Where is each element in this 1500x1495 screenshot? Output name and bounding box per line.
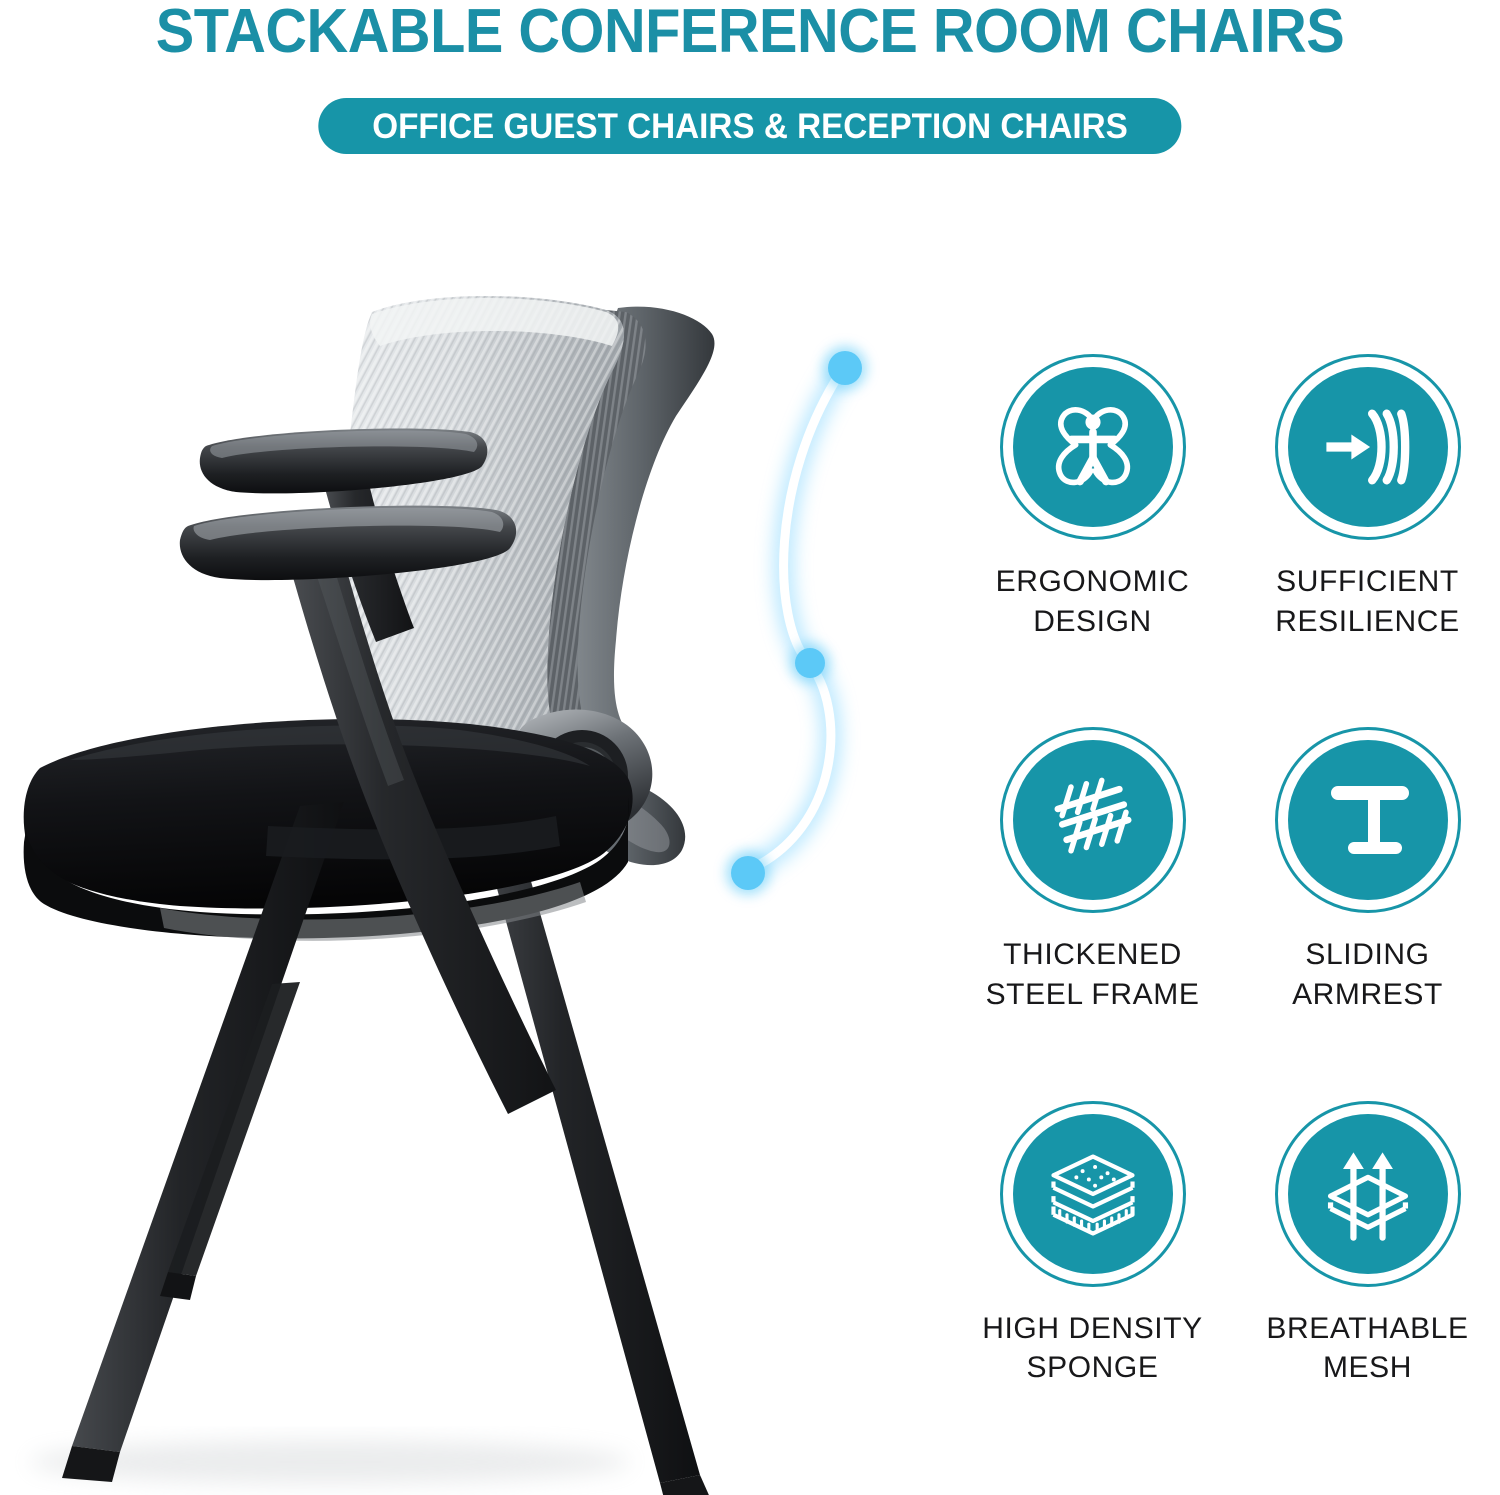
feature-badge — [1275, 354, 1461, 540]
spine-dot-bottom — [731, 856, 765, 890]
chair-illustration — [0, 230, 960, 1495]
feature-label: ERGONOMIC DESIGN — [996, 562, 1190, 641]
chair-foot-front-left — [62, 1446, 120, 1482]
feature-item-sufficient-resilience: SUFFICIENT RESILIENCE — [1235, 340, 1500, 713]
feature-label: HIGH DENSITY SPONGE — [982, 1309, 1203, 1388]
breathable-mesh-icon — [1288, 1114, 1448, 1274]
feature-item-breathable-mesh: BREATHABLE MESH — [1235, 1087, 1500, 1460]
product-infographic: STACKABLE CONFERENCE ROOM CHAIRS OFFICE … — [0, 0, 1500, 1495]
header: STACKABLE CONFERENCE ROOM CHAIRS OFFICE … — [0, 0, 1500, 175]
feature-item-thickened-steel-frame: THICKENED STEEL FRAME — [960, 713, 1225, 1086]
feature-item-ergonomic-design: ERGONOMIC DESIGN — [960, 340, 1225, 713]
feature-badge — [1275, 727, 1461, 913]
feature-label: THICKENED STEEL FRAME — [986, 935, 1200, 1014]
high-density-sponge-icon — [1013, 1114, 1173, 1274]
sliding-armrest-icon — [1288, 740, 1448, 900]
feature-label: SLIDING ARMREST — [1292, 935, 1443, 1014]
feature-item-high-density-sponge: HIGH DENSITY SPONGE — [960, 1087, 1225, 1460]
feature-badge — [1000, 727, 1186, 913]
feature-badge — [1275, 1101, 1461, 1287]
feature-label: BREATHABLE MESH — [1266, 1309, 1468, 1388]
feature-list: ERGONOMIC DESIGN — [960, 340, 1500, 1460]
feature-label: SUFFICIENT RESILIENCE — [1275, 562, 1459, 641]
thickened-steel-frame-icon — [1013, 740, 1173, 900]
subtitle-text: OFFICE GUEST CHAIRS & RECEPTION CHAIRS — [372, 109, 1128, 144]
sufficient-resilience-icon — [1288, 367, 1448, 527]
spine-dot-top — [828, 351, 862, 385]
product-image — [0, 230, 960, 1495]
page-title: STACKABLE CONFERENCE ROOM CHAIRS — [53, 0, 1448, 67]
ergonomic-design-icon — [1013, 367, 1173, 527]
feature-badge — [1000, 1101, 1186, 1287]
spine-curve-graphic — [726, 346, 867, 895]
subtitle-badge: OFFICE GUEST CHAIRS & RECEPTION CHAIRS — [318, 98, 1181, 154]
feature-item-sliding-armrest: SLIDING ARMREST — [1235, 713, 1500, 1086]
spine-dot-middle — [795, 648, 825, 678]
feature-badge — [1000, 354, 1186, 540]
